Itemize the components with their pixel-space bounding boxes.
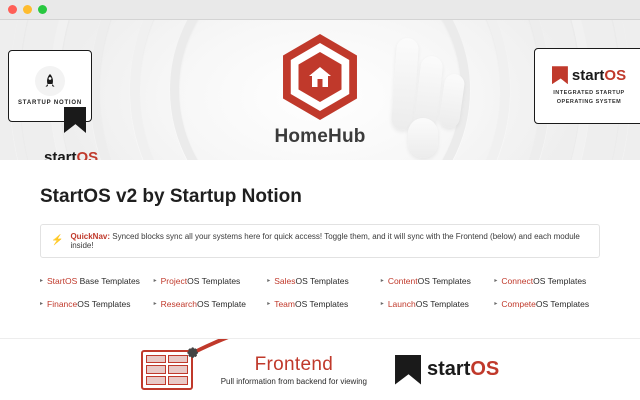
minimize-window-button[interactable] <box>23 5 32 14</box>
link-column: ▸ SalesOS Templates ▸ TeamOS Templates <box>267 276 373 311</box>
footer-brand-name: start <box>427 358 470 380</box>
maximize-window-button[interactable] <box>38 5 47 14</box>
list-item-accent: Launch <box>388 299 416 309</box>
list-item-accent: Content <box>388 276 418 286</box>
startup-notion-badge-label: STARTUP NOTION <box>18 100 82 106</box>
triangle-right-icon: ▸ <box>154 276 157 286</box>
list-item[interactable]: ▸ SalesOS Templates <box>267 276 373 287</box>
list-item[interactable]: ▸ LaunchOS Templates <box>381 299 487 310</box>
list-item-rest: OS Templates <box>77 299 130 309</box>
startos-badge-name: start <box>572 67 605 84</box>
list-item-accent: Compete <box>501 299 536 309</box>
footer-banner: Frontend Pull information from backend f… <box>0 338 640 400</box>
rocket-circle-icon <box>35 66 65 96</box>
footer-title: Frontend <box>221 354 367 376</box>
list-item-rest: OS Templates <box>418 276 471 286</box>
list-item-accent: Research <box>161 299 197 309</box>
list-item-rest: OS Templates <box>416 299 469 309</box>
list-item[interactable]: ▸ ConnectOS Templates <box>494 276 600 287</box>
list-item-rest: OS Template <box>197 299 246 309</box>
list-item[interactable]: ▸ TeamOS Templates <box>267 299 373 310</box>
list-item-rest: Base Templates <box>77 276 140 286</box>
list-item-rest: OS Templates <box>533 276 586 286</box>
list-item-accent: StartOS <box>47 276 77 286</box>
list-item-rest: OS Templates <box>187 276 240 286</box>
quicknav-callout: ⚡ QuickNav: Synced blocks sync all your … <box>40 224 600 258</box>
flag-icon <box>395 355 421 385</box>
list-item-rest: OS Templates <box>295 276 348 286</box>
main-content: StartOS v2 by Startup Notion ⚡ QuickNav:… <box>0 160 640 338</box>
quicknav-label: QuickNav: <box>70 232 110 241</box>
frontend-block: Frontend Pull information from backend f… <box>221 354 367 386</box>
hero-title: HomeHub <box>274 126 365 148</box>
list-item[interactable]: ▸ ProjectOS Templates <box>154 276 260 287</box>
list-item-accent: Connect <box>501 276 533 286</box>
list-item-rest: OS Templates <box>536 299 589 309</box>
triangle-right-icon: ▸ <box>494 276 497 286</box>
list-item[interactable]: ▸ CompeteOS Templates <box>494 299 600 310</box>
hero-banner: HomeHub STARTUP NOTION startOS INTEGRATE… <box>0 20 640 160</box>
triangle-right-icon: ▸ <box>494 299 497 309</box>
list-item-accent: Team <box>274 299 295 309</box>
triangle-right-icon: ▸ <box>381 276 384 286</box>
link-column: ▸ StartOS Base Templates ▸ FinanceOS Tem… <box>40 276 146 311</box>
list-item[interactable]: ▸ ResearchOS Template <box>154 299 260 310</box>
footer-subtitle: Pull information from backend for viewin… <box>221 377 367 386</box>
list-item-accent: Project <box>161 276 187 286</box>
hero-brand-name: start <box>44 149 77 160</box>
hero-brand-mark: startOS <box>44 131 98 160</box>
triangle-right-icon: ▸ <box>40 276 43 286</box>
flag-icon <box>552 66 568 84</box>
link-column: ▸ ContentOS Templates ▸ LaunchOS Templat… <box>381 276 487 311</box>
link-column: ▸ ConnectOS Templates ▸ CompeteOS Templa… <box>494 276 600 311</box>
triangle-right-icon: ▸ <box>154 299 157 309</box>
triangle-right-icon: ▸ <box>267 276 270 286</box>
hero-brand-suffix: OS <box>77 149 99 160</box>
list-item-accent: Sales <box>274 276 295 286</box>
startos-badge-suffix: OS <box>604 67 626 84</box>
list-item[interactable]: ▸ FinanceOS Templates <box>40 299 146 310</box>
quicknav-text: Synced blocks sync all your systems here… <box>70 232 579 250</box>
list-item[interactable]: ▸ ContentOS Templates <box>381 276 487 287</box>
home-hexagon-icon <box>277 34 363 120</box>
footer-brand-suffix: OS <box>470 358 499 380</box>
link-column: ▸ ProjectOS Templates ▸ ResearchOS Templ… <box>154 276 260 311</box>
grid-module-icon <box>141 350 193 390</box>
list-item-rest: OS Templates <box>295 299 348 309</box>
title-bar <box>0 0 640 20</box>
startos-badge-subtitle: INTEGRATED STARTUP OPERATING SYSTEM <box>541 89 637 106</box>
gear-icon <box>184 344 200 360</box>
app-window: HomeHub STARTUP NOTION startOS INTEGRATE… <box>0 0 640 400</box>
triangle-right-icon: ▸ <box>381 299 384 309</box>
list-item-accent: Finance <box>47 299 77 309</box>
template-link-grid: ▸ StartOS Base Templates ▸ FinanceOS Tem… <box>40 276 600 311</box>
startos-badge[interactable]: startOS INTEGRATED STARTUP OPERATING SYS… <box>534 48 640 124</box>
page-title: StartOS v2 by Startup Notion <box>40 186 600 208</box>
close-window-button[interactable] <box>8 5 17 14</box>
triangle-right-icon: ▸ <box>40 299 43 309</box>
footer-brand: startOS <box>395 355 499 385</box>
lightning-bolt-icon: ⚡ <box>51 236 63 246</box>
list-item[interactable]: ▸ StartOS Base Templates <box>40 276 146 287</box>
triangle-right-icon: ▸ <box>267 299 270 309</box>
